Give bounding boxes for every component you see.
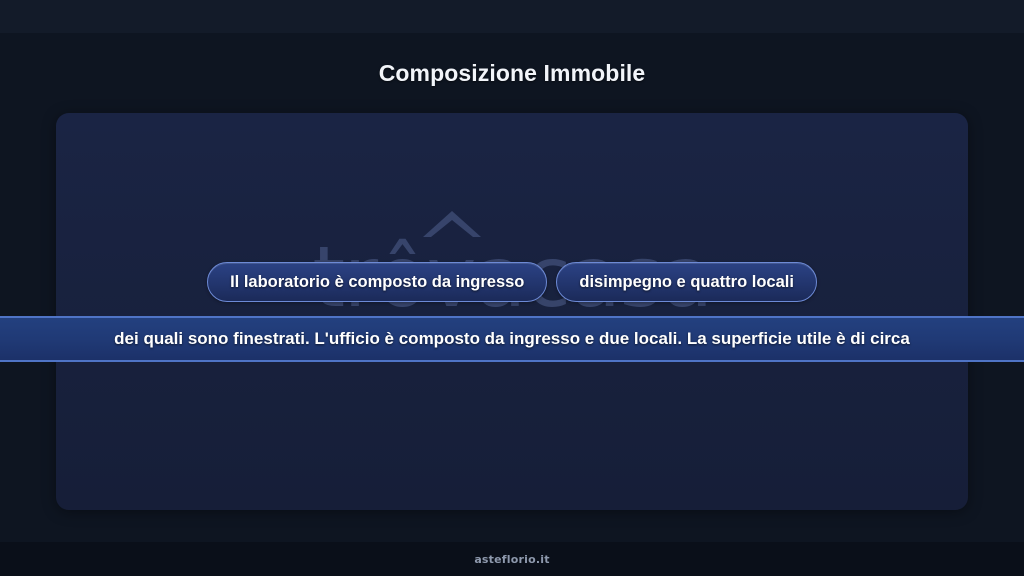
highlight-pill-1[interactable]: Il laboratorio è composto da ingresso [207,262,547,302]
page-title: Composizione Immobile [0,60,1024,87]
footer-site-label: asteflorio.it [474,553,549,566]
highlight-banner[interactable]: dei quali sono finestrati. L'ufficio è c… [0,316,1024,362]
highlight-banner-text: dei quali sono finestrati. L'ufficio è c… [98,329,926,349]
footer: asteflorio.it [0,542,1024,576]
highlight-pill-2[interactable]: disimpegno e quattro locali [556,262,817,302]
highlight-pill-row: Il laboratorio è composto da ingresso di… [0,262,1024,302]
content-card [56,113,968,510]
top-band [0,0,1024,33]
